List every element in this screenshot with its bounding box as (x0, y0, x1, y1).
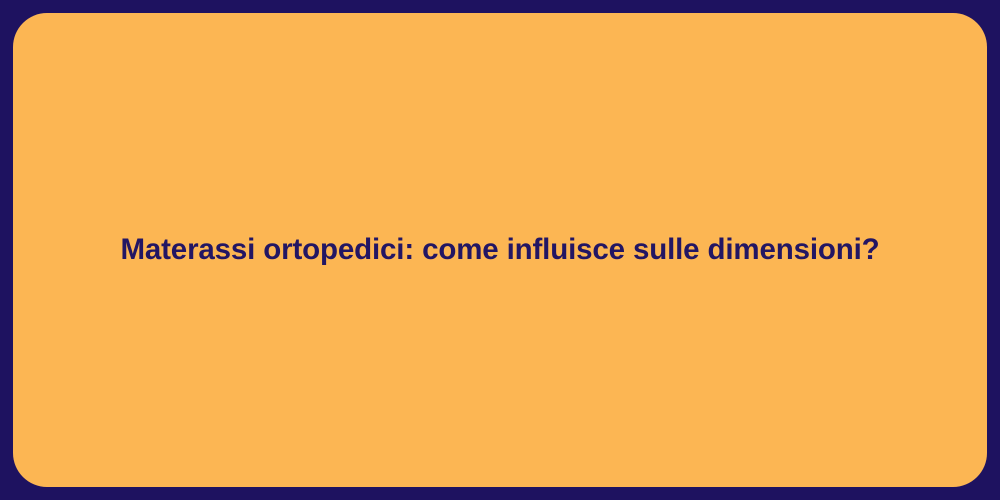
card-content-area: Materassi ortopedici: come influisce sul… (13, 232, 987, 269)
content-card: Materassi ortopedici: come influisce sul… (13, 13, 987, 487)
page-background: Materassi ortopedici: come influisce sul… (0, 0, 1000, 500)
page-title: Materassi ortopedici: come influisce sul… (53, 232, 947, 269)
